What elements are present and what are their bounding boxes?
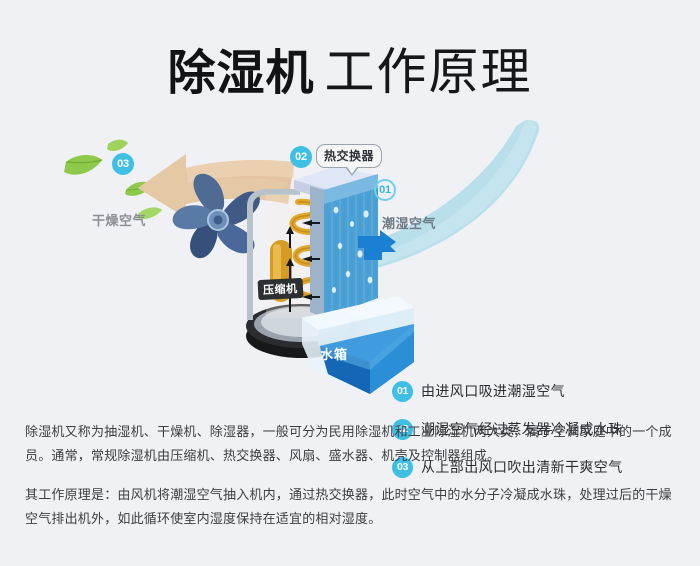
page-title-secondary: 工作原理	[325, 44, 533, 100]
page-title-primary: 除湿机	[167, 47, 314, 100]
compressor-label: 压缩机	[258, 278, 303, 300]
diagram-badge-02: 02	[290, 146, 312, 168]
callout-tail-inner	[347, 167, 357, 174]
dry-air-label: 干燥空气	[92, 210, 146, 229]
body-copy: 除湿机又称为抽湿机、干燥机、除湿器，一般可分为民用除湿机和工业除湿机两大类，属于…	[25, 420, 677, 531]
dehumidifier-illustration: 03 02 01 干燥空气 潮湿空气 热交换器 压缩机 水箱 01 由进风口吸进…	[0, 118, 700, 403]
heat-exchanger-callout-text: 热交换器	[324, 149, 374, 163]
legend-badge-01: 01	[392, 381, 413, 402]
water-tank-label: 水箱	[320, 344, 348, 363]
page-title: 除湿机工作原理	[0, 32, 700, 104]
legend-text-01: 由进风口吸进潮湿空气	[421, 381, 565, 401]
heat-exchanger-callout: 热交换器	[316, 144, 382, 168]
body-paragraph-2: 其工作原理是：由风机将潮湿空气抽入机内，通过热交换器，此时空气中的水分子冷凝成水…	[25, 483, 677, 531]
diagram-badge-01: 01	[374, 179, 396, 201]
legend-item-01: 01 由进风口吸进潮湿空气	[392, 372, 692, 410]
body-paragraph-1: 除湿机又称为抽湿机、干燥机、除湿器，一般可分为民用除湿机和工业除湿机两大类，属于…	[25, 420, 677, 468]
infographic-page: 除湿机工作原理	[0, 0, 700, 566]
diagram-badge-03: 03	[112, 153, 134, 175]
humid-air-label: 潮湿空气	[382, 213, 436, 232]
